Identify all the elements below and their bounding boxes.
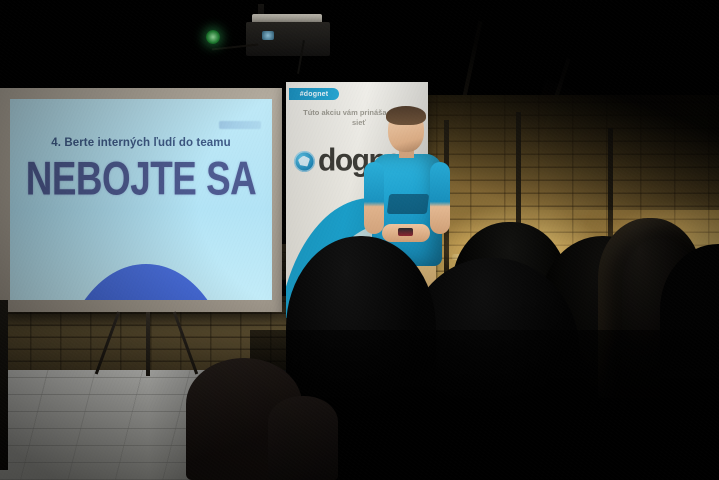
speaker-hair (386, 106, 426, 125)
speaker-arm-right (430, 162, 450, 234)
speaker-arm-left (364, 162, 384, 234)
presentation-photo: 4. Berte interných ľudí do teamu NEBOJTE… (0, 0, 719, 480)
tripod-leg-left (95, 311, 120, 374)
screen-left-post (0, 300, 8, 470)
tripod-center-pole (146, 312, 150, 376)
slide-kicker-text: 4. Berte interných ľudí do teamu (10, 137, 272, 150)
projection-screen-frame: 4. Berte interných ľudí do teamu NEBOJTE… (0, 88, 282, 312)
foreground-chair-2 (268, 396, 338, 480)
speaker-tshirt-print (387, 194, 429, 214)
slide-headline-text: NEBOJTE SA (20, 155, 261, 202)
projector-lens-icon (262, 31, 274, 40)
projection-screen-surface: 4. Berte interných ľudí do teamu NEBOJTE… (10, 99, 272, 300)
screen-tripod-stand (88, 306, 208, 376)
green-indicator-light (206, 30, 220, 44)
slide-corner-logo-icon (219, 121, 261, 129)
slide-dome-graphic (60, 264, 232, 300)
tripod-leg-right (173, 311, 198, 374)
presentation-clicker (398, 228, 413, 236)
ceiling-projector (246, 22, 330, 56)
